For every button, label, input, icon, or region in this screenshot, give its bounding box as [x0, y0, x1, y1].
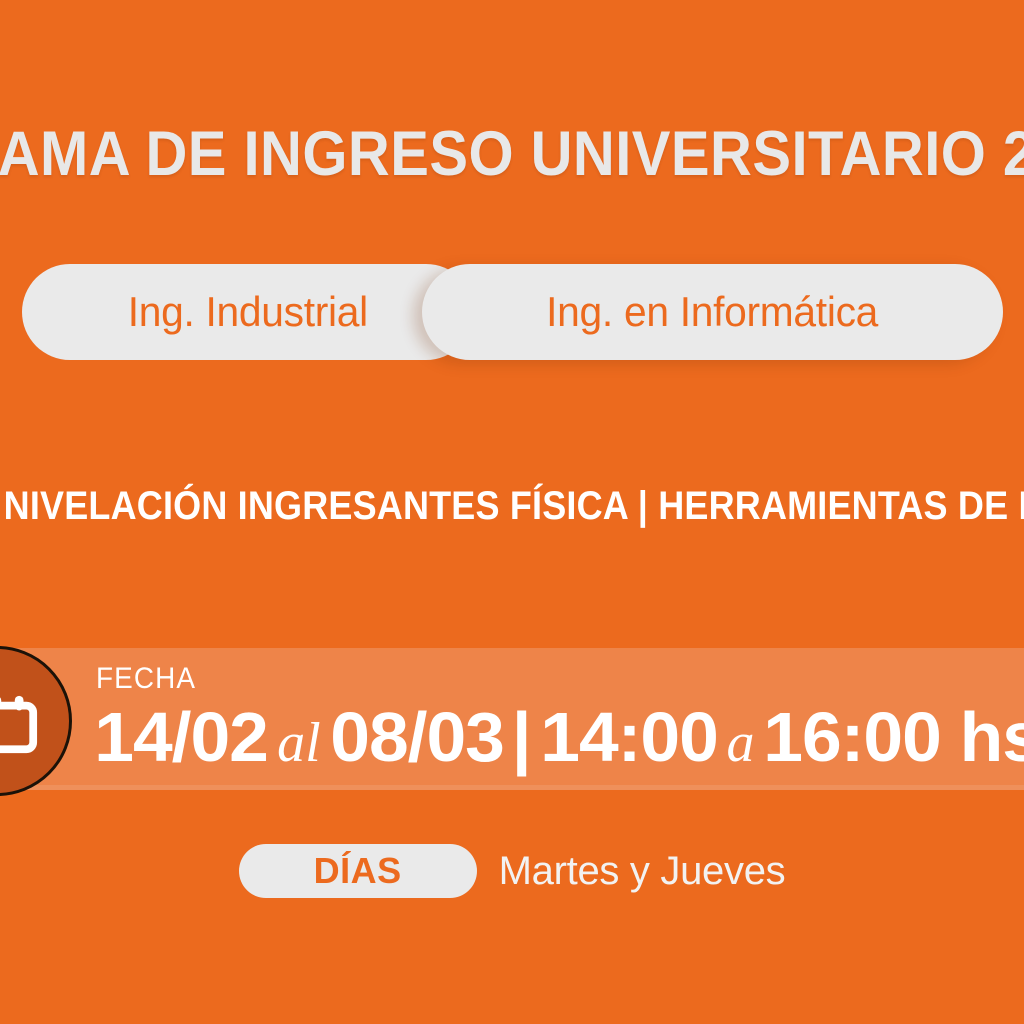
subjects-subtitle: E NIVELACIÓN INGRESANTES FÍSICA | HERRAM… — [0, 486, 1024, 526]
date-time-separator: | — [502, 702, 542, 772]
career-pill-group: Ing. Industrial Ing. en Informática — [0, 264, 1024, 360]
page-title: RAMA DE INGRESO UNIVERSITARIO 20 — [0, 123, 1024, 186]
career-pill-ing-industrial[interactable]: Ing. Industrial — [22, 264, 474, 360]
days-value: Martes y Jueves — [499, 849, 786, 894]
date-end: 08/03 — [330, 702, 504, 772]
days-pill-label: DÍAS — [314, 850, 402, 892]
poster-title-row: RAMA DE INGRESO UNIVERSITARIO 20 — [0, 116, 1024, 192]
days-row: DÍAS Martes y Jueves — [0, 840, 1024, 902]
date-start: 14/02 — [94, 702, 268, 772]
career-pill-label: Ing. Industrial — [128, 288, 368, 336]
career-pill-label: Ing. en Informática — [547, 288, 879, 336]
date-connector: al — [266, 715, 332, 771]
time-start: 14:00 — [540, 702, 718, 772]
schedule-values: 14/02 al 08/03 | 14:00 a 16:00 hs — [96, 702, 1024, 772]
schedule-label: FECHA — [96, 664, 972, 694]
subjects-subtitle-row: E NIVELACIÓN INGRESANTES FÍSICA | HERRAM… — [0, 478, 1024, 534]
poster-canvas: RAMA DE INGRESO UNIVERSITARIO 20 Ing. In… — [0, 0, 1024, 1024]
career-pill-ing-en-informatica[interactable]: Ing. en Informática — [422, 264, 1003, 360]
time-connector: a — [716, 715, 766, 771]
calendar-icon — [0, 693, 39, 755]
schedule-content: FECHA 14/02 al 08/03 | 14:00 a 16:00 hs — [96, 664, 1024, 772]
time-end: 16:00 hs — [763, 702, 1024, 772]
days-pill: DÍAS — [239, 844, 477, 898]
